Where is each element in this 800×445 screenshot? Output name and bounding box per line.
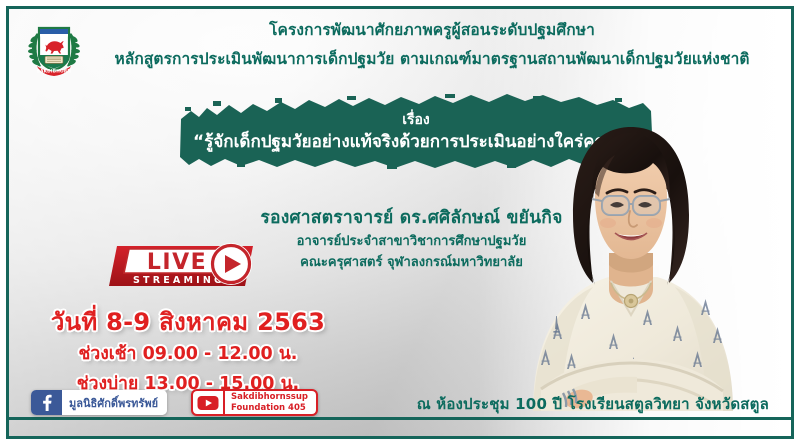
venue-text: ณ ห้องประชุม 100 ปี โรงเรียนสตูลวิทยา จั… [417, 392, 769, 416]
poster-frame: SAKDIBHORN โครงการพัฒนาศักยภาพครูผู้สอนร… [6, 6, 794, 439]
header: SAKDIBHORN โครงการพัฒนาศักยภาพครูผู้สอนร… [9, 9, 791, 87]
live-label: LIVE [147, 250, 207, 275]
header-titles: โครงการพัฒนาศักยภาพครูผู้สอนระดับปฐมศึกษ… [97, 19, 767, 71]
header-line-2: หลักสูตรการประเมินพัฒนาการเด็กปฐมวัย ตาม… [97, 47, 767, 71]
header-line-1: โครงการพัฒนาศักยภาพครูผู้สอนระดับปฐมศึกษ… [97, 19, 767, 41]
facebook-page-name: มูลนิธิศักดิ์พรทรัพย์ [62, 390, 167, 415]
facebook-icon [31, 390, 62, 415]
youtube-channel-name: Sakdibhornssup Foundation 405 [223, 391, 316, 414]
speaker-name: รองศาสตราจารย์ ดร.ศศิลักษณ์ ขยันกิจ [184, 205, 639, 231]
youtube-icon [193, 391, 223, 414]
youtube-badge[interactable]: Sakdibhornssup Foundation 405 [191, 389, 318, 416]
streaming-label: STREAMING [133, 275, 225, 286]
event-date: วันที่ 8-9 สิงหาคม 2563 [23, 305, 353, 339]
morning-session: ช่วงเช้า 09.00 - 12.00 น. [23, 339, 353, 369]
youtube-line-2: Foundation 405 [231, 403, 308, 414]
youtube-line-1: Sakdibhornssup [231, 392, 308, 403]
footer: มูลนิธิศักดิ์พรทรัพย์ Sakdibhornssup Fou… [9, 384, 791, 436]
organization-logo-icon: SAKDIBHORN [23, 17, 85, 79]
facebook-badge[interactable]: มูลนิธิศักดิ์พรทรัพย์ [31, 390, 167, 415]
svg-text:SAKDIBHORN: SAKDIBHORN [37, 68, 72, 74]
footer-divider [9, 417, 791, 420]
event-poster: SAKDIBHORN โครงการพัฒนาศักยภาพครูผู้สอนร… [0, 0, 800, 445]
live-streaming-badge[interactable]: LIVE STREAMING [107, 240, 259, 292]
topic-label: เรื่อง [402, 111, 430, 130]
